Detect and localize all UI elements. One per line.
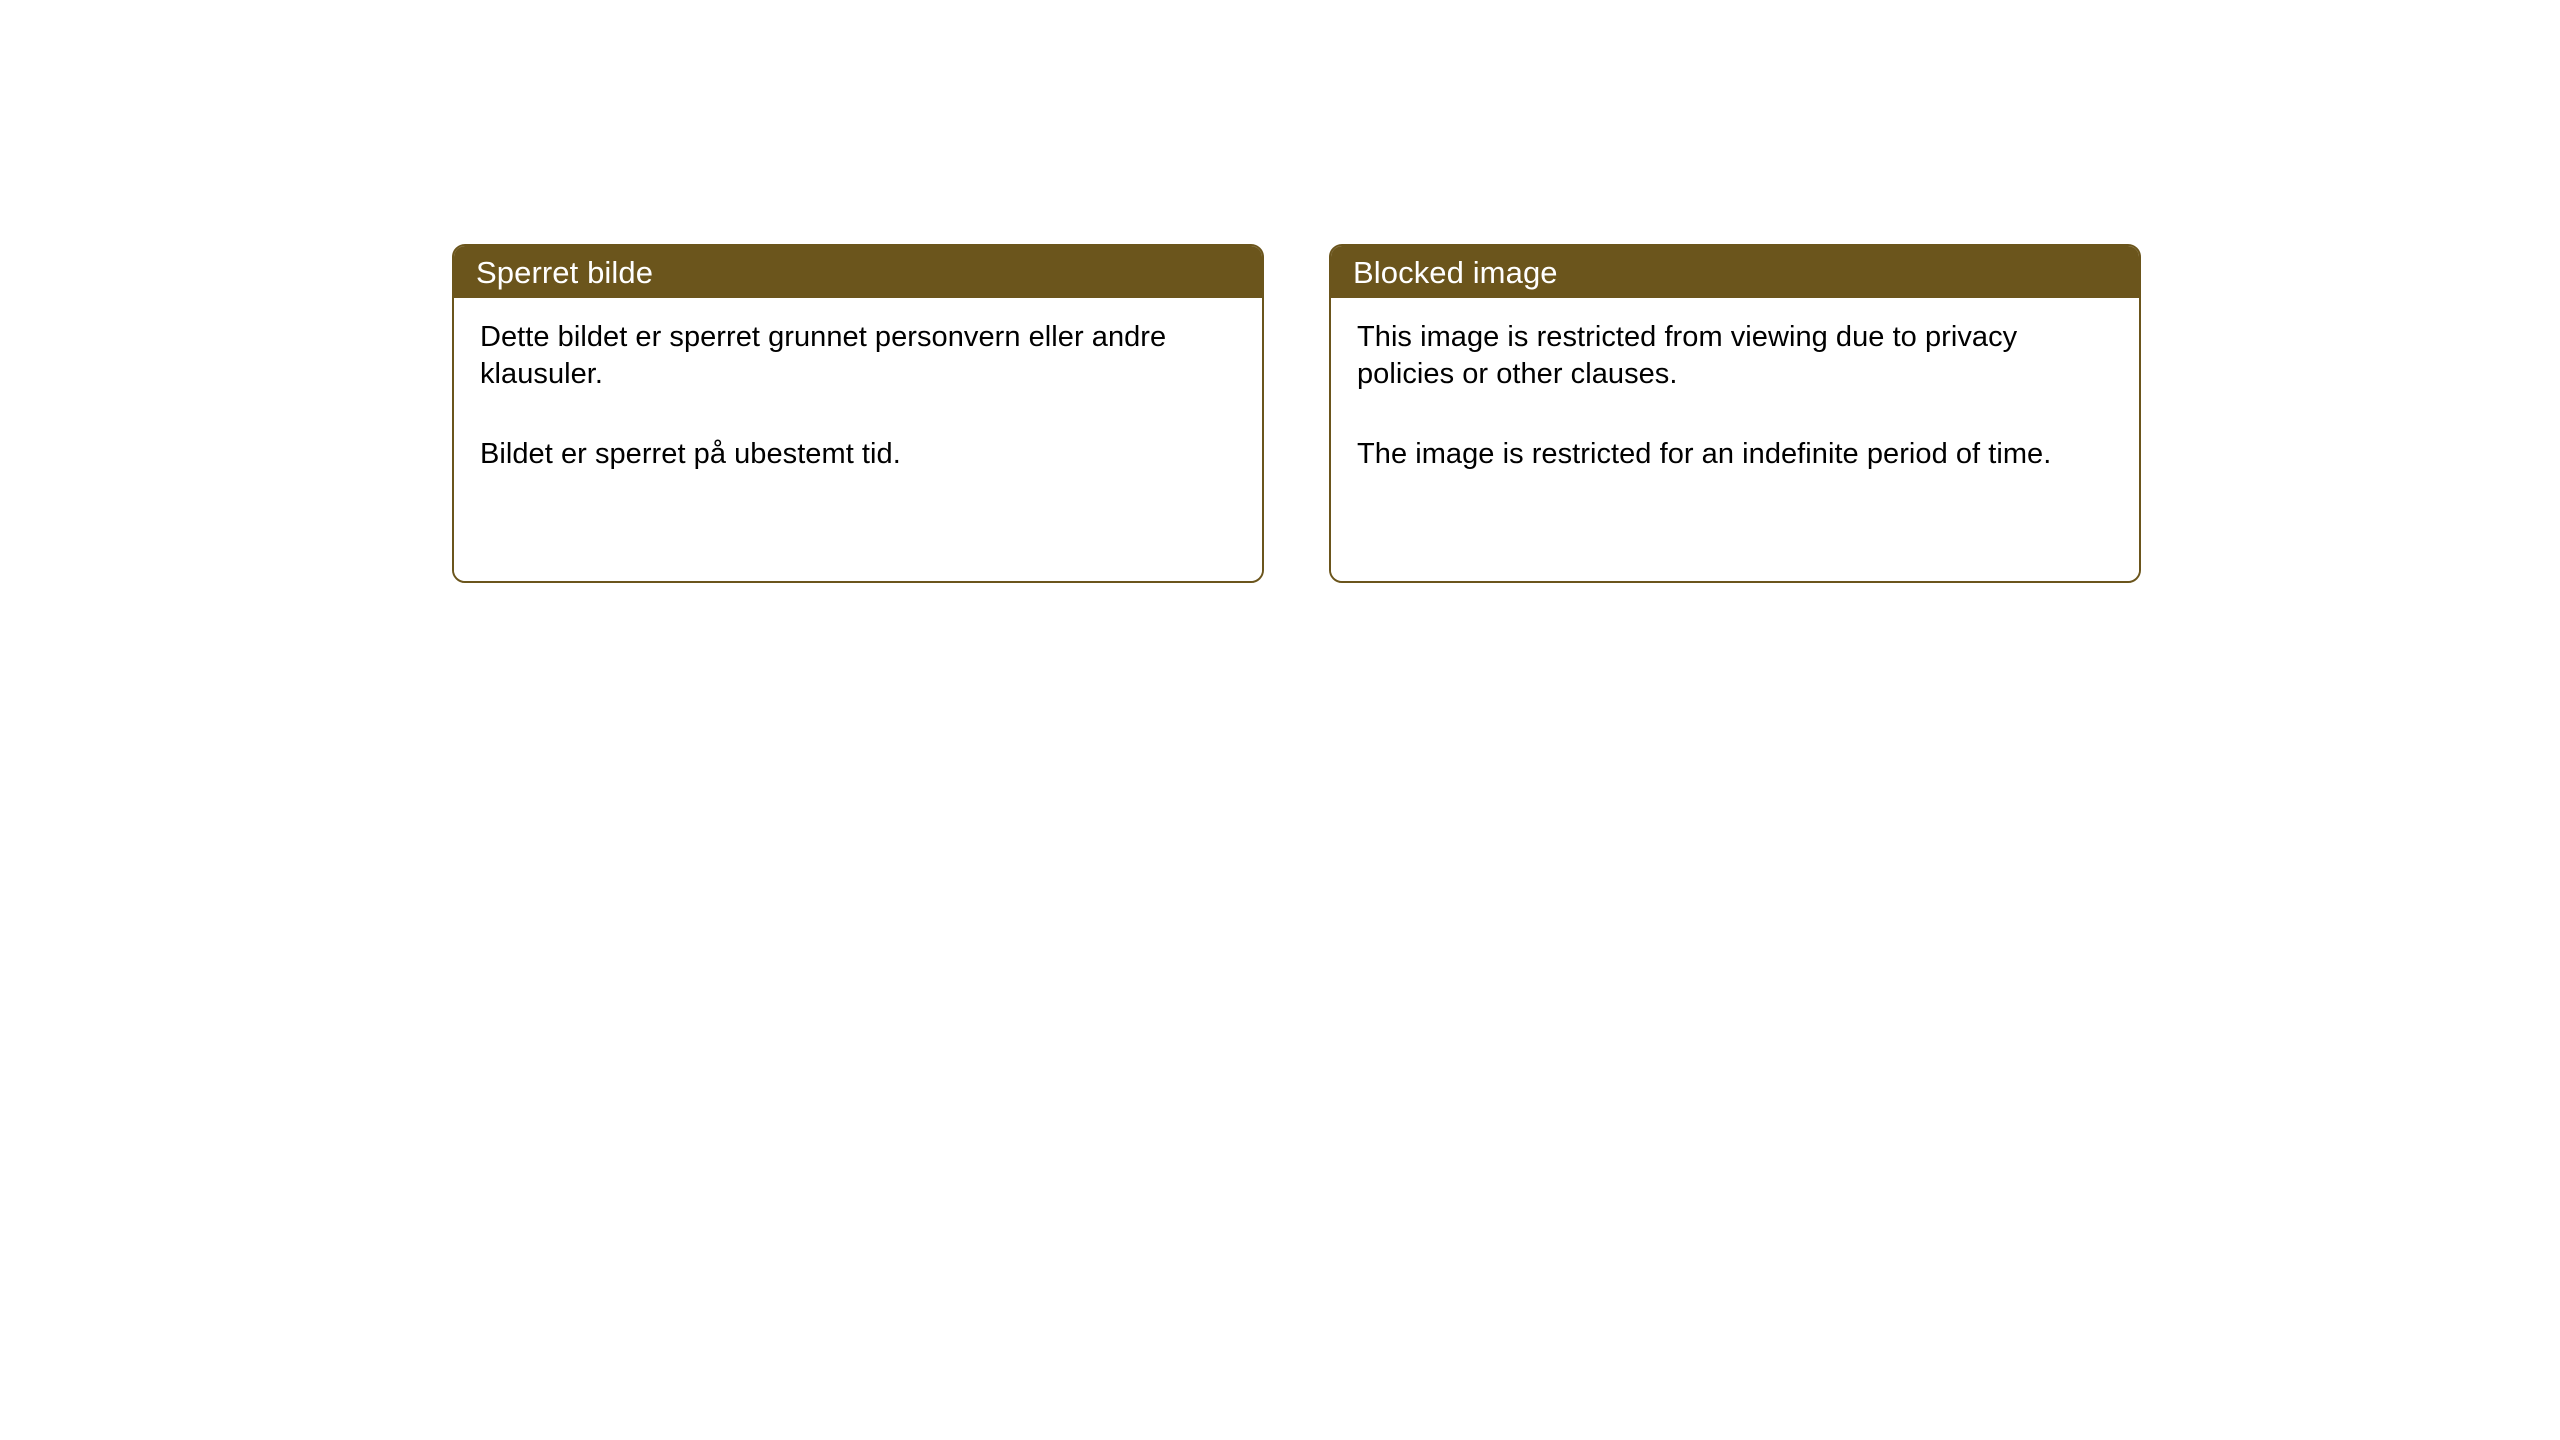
blocked-image-card-english: Blocked image This image is restricted f… [1329,244,2141,583]
card-header-english: Blocked image [1331,246,2139,298]
card-header-norwegian: Sperret bilde [454,246,1262,298]
card-body-norwegian: Dette bildet er sperret grunnet personve… [454,298,1262,581]
blocked-image-card-norwegian: Sperret bilde Dette bildet er sperret gr… [452,244,1264,583]
card-paragraph-reason-norwegian: Dette bildet er sperret grunnet personve… [480,319,1236,393]
notice-cards-container: Sperret bilde Dette bildet er sperret gr… [452,244,2141,583]
card-paragraph-duration-norwegian: Bildet er sperret på ubestemt tid. [480,436,1236,473]
card-title-norwegian: Sperret bilde [476,257,653,288]
page-root: Sperret bilde Dette bildet er sperret gr… [0,0,2560,1440]
card-paragraph-duration-english: The image is restricted for an indefinit… [1357,436,2113,473]
card-title-english: Blocked image [1353,257,1558,288]
card-body-english: This image is restricted from viewing du… [1331,298,2139,581]
card-paragraph-reason-english: This image is restricted from viewing du… [1357,319,2113,393]
